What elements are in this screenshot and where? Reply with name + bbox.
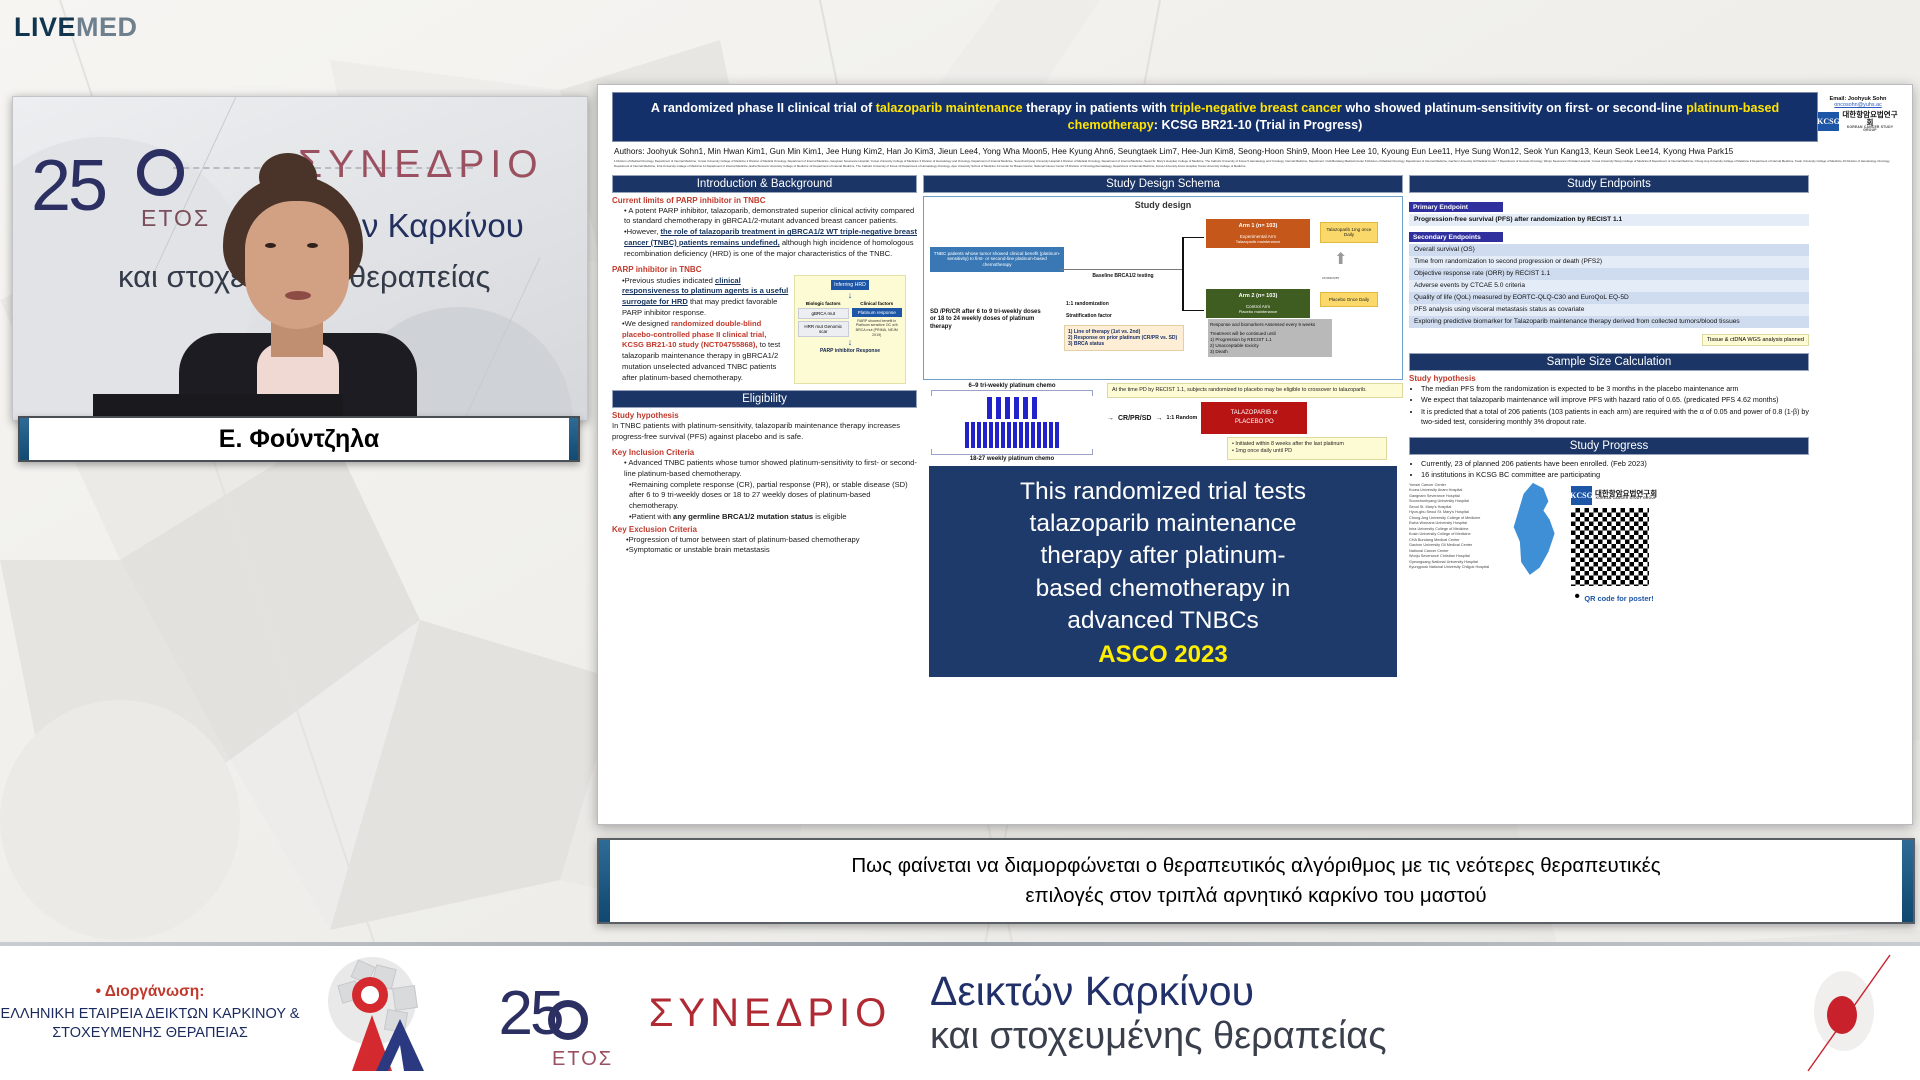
secondary-endpoint-2: Time from randomization to second progre… [1409, 256, 1809, 268]
design-talazoparib-box: Talazoparib 1mg once Daily [1320, 222, 1378, 243]
samplesize-list: The median PFS from the randomization is… [1421, 384, 1809, 428]
elig-incl-1: Advanced TNBC patients whose tumor showe… [624, 458, 917, 478]
samplesize-label: Study hypothesis [1409, 374, 1809, 383]
organizer-block: • Διοργάνωση: ΕΛΛΗΝΙΚΗ ΕΤΑΙΡΕΙΑ ΔΕΙΚΤΩΝ … [0, 983, 300, 1043]
elig-label-2: Key Inclusion Criteria [612, 448, 917, 457]
contact-block: Email: Joohyuk Sohn oncosohn@yuhs.ac KCS… [1818, 96, 1898, 133]
livemed-logo[interactable]: LIVEMED [14, 12, 138, 43]
design-sd-note: SD /PR/CR after 6 to 9 tri-weekly doses … [930, 309, 1048, 332]
red-box-line1: TALAZOPARIB or [1206, 409, 1302, 418]
elig-label-3: Key Exclusion Criteria [612, 525, 917, 534]
banner-asco-label: ASCO 2023 [941, 639, 1385, 671]
secondary-endpoint-5: Quality of life (QoL) measured by EORTC-… [1409, 292, 1809, 304]
hrd-top-box: Inferring HRD [831, 280, 869, 290]
chemo-bottom-label: 18-27 weekly platinum chemo [923, 456, 1101, 462]
hrd-clinical-col: Clinical factors Platinum response RARP … [852, 301, 903, 339]
organizer-name: ΕΛΛΗΝΙΚΗ ΕΤΑΙΡΕΙΑ ΔΕΙΚΤΩΝ ΚΑΡΚΙΝΟΥ & ΣΤΟ… [0, 1005, 300, 1043]
society-logo [300, 953, 430, 1073]
design-connector [1060, 269, 1182, 270]
intro-label-1: Current limits of PARP inhibitor in TNBC [612, 196, 917, 205]
section-header-samplesize: Sample Size Calculation [1409, 353, 1809, 371]
speaker-figure [173, 175, 423, 420]
degree-ring-icon-footer [548, 1000, 588, 1040]
section-header-design: Study Design Schema [923, 175, 1403, 193]
elig-exclusion: •Progression of tumor between start of p… [612, 535, 917, 557]
crprsd-label: CR/PR/SD [1118, 415, 1151, 422]
design-placebo-box: Placebo Once Daily [1320, 292, 1378, 308]
logo-live: LIVE [14, 12, 76, 42]
organizer-label: • Διοργάνωση: [0, 983, 300, 1001]
samplesize-item-3: It is predicted that a total of 206 pati… [1421, 407, 1809, 428]
design-split-line [1182, 237, 1184, 311]
samplesize-item-2: We expect that talazoparib maintenance w… [1421, 395, 1809, 405]
elig-incl-3-post: is eligible [813, 512, 846, 521]
dosing-note-1: Initiated within 8 weeks after the last … [1235, 441, 1343, 447]
kcsg-logo: KCSG 대한항암요법연구회 KOREAN CANCER STUDY GROUP [1818, 111, 1898, 133]
design-strat-3: 3) BRCA status [1068, 341, 1180, 347]
design-rand-label: 1:1 randomization [1066, 301, 1176, 307]
participating-institutions: Yonsei Cancer Center Korea University An… [1409, 483, 1501, 571]
elig-excl-1: Progression of tumor between start of pl… [629, 535, 860, 544]
hrd-arrow-icon-2: ↓ [798, 339, 902, 345]
title-highlight-2: triple-negative breast cancer [1170, 101, 1342, 115]
design-arm1-sub2: Talazoparib maintenance [1209, 239, 1307, 244]
kcsg-mark-icon: KCSG [1818, 112, 1839, 131]
title-seg-4: : KCSG BR21-10 (Trial in Progress) [1154, 118, 1363, 132]
randomize-red-box: TALAZOPARIB or PLACEBO PO [1201, 402, 1307, 434]
title-seg-1: A randomized phase II clinical trial of [651, 101, 876, 115]
chemo-top-label: 6–9 tri-weekly platinum chemo [923, 383, 1101, 389]
caption-text: Πως φαίνεται να διαμορφώνεται ο θεραπευτ… [825, 851, 1686, 910]
progress-item-1: Currently, 23 of planned 206 patients ha… [1421, 458, 1809, 469]
elig-incl-2: Remaining complete response (CR), partia… [629, 480, 908, 511]
hrd-biologic-col: Biologic factors gBRCA mut HRR mut Genom… [798, 301, 849, 339]
hrd-flow-diagram: Inferring HRD ↓ Biologic factors gBRCA m… [794, 275, 906, 385]
kcsg-kr-sub-2: KOREAN CANCER STUDY GROUP [1595, 497, 1657, 500]
secondary-endpoint-3: Objective response rate (ORR) by RECIST … [1409, 268, 1809, 280]
progress-bottom-row: Yonsei Cancer Center Korea University An… [1409, 483, 1809, 606]
secondary-endpoint-header: Secondary Endpoints [1409, 232, 1503, 242]
chemo-weekly-bars [923, 422, 1101, 448]
design-arrow-up [1182, 237, 1204, 239]
banner-line-3: therapy after platinum- [1040, 542, 1285, 569]
design-strat-box: 1) Line of therapy (1st vs. 2nd) 2) Resp… [1064, 325, 1184, 352]
hrd-biologic-1: gBRCA mut [798, 308, 849, 319]
caption-line-1: Πως φαίνεται να διαμορφώνεται ο θεραπευτ… [851, 854, 1660, 877]
primary-endpoint: Progression-free survival (PFS) after ra… [1409, 214, 1809, 226]
email-address[interactable]: oncosohn@yuhs.ac [1818, 102, 1898, 108]
speaker-eye-left [265, 243, 276, 248]
speaker-name: Ε. Φούντζηλα [219, 425, 379, 454]
tissue-analysis-note: Tissue & ctDNA WGS analysis planned [1702, 334, 1809, 346]
anniversary-etos: ΕΤΟΣ [552, 1048, 613, 1071]
key-message-banner: This randomized trial tests talazoparib … [929, 466, 1397, 677]
chemo-schedule-row: 6–9 tri-weekly platinum chemo 18-27 week… [923, 383, 1403, 462]
design-strat-title: Stratification factor [1066, 313, 1176, 319]
random-11-label: 1:1 Random [1166, 415, 1197, 421]
design-patients-box: TNBC patients whose tumor showed clinica… [930, 247, 1064, 272]
elig-incl-3-pre: Patient with [632, 512, 673, 521]
hrd-biologic-cap: Biologic factors [798, 301, 849, 306]
poster-column-middle: Study Design Schema Study design TNBC pa… [923, 172, 1403, 677]
intro-bullet-2-pre: However, [627, 227, 661, 236]
hrd-arrow-icon: ↓ [798, 292, 902, 298]
elig-inclusion: • Advanced TNBC patients whose tumor sho… [612, 458, 917, 523]
qr-code-icon[interactable] [1571, 508, 1649, 586]
kcsg-logo-footer: KCSG 대한항암요법연구회 KOREAN CANCER STUDY GROUP [1571, 486, 1657, 505]
design-arrow-down [1182, 310, 1204, 312]
scientific-poster: A randomized phase II clinical trial of … [604, 90, 1906, 818]
section-header-intro: Introduction & Background [612, 175, 917, 193]
design-gray-1: Response and biomarkers Assessed every 9… [1210, 322, 1330, 328]
section-header-progress: Study Progress [1409, 437, 1809, 455]
primary-endpoint-header: Primary Endpoint [1409, 202, 1503, 212]
banner-line-1: This randomized trial tests [1020, 478, 1306, 505]
progress-list: Currently, 23 of planned 206 patients ha… [1421, 458, 1809, 480]
red-box-line2: PLACEBO PO [1206, 418, 1302, 427]
intro-body-2: •Previous studies indicated clinical res… [612, 275, 790, 385]
poster-column-right: Study Endpoints Primary Endpoint Progres… [1409, 172, 1809, 677]
speaker-name-plate: Ε. Φούντζηλα [18, 416, 580, 462]
secondary-endpoint-1: Overall survival (OS) [1409, 244, 1809, 256]
footer-accent-mark [1780, 953, 1920, 1073]
dosing-note-2: 1mg once daily until PD [1235, 448, 1292, 454]
chemo-triweekly-bars [923, 397, 1101, 419]
title-seg-3: who showed platinum-sensitivity on first… [1342, 101, 1686, 115]
design-arm2-title: Arm 2 (n= 103) [1209, 293, 1307, 300]
design-arm1-box: Arm 1 (n= 103) Experimental Arm Talazopa… [1206, 219, 1310, 249]
study-design-box: Study design TNBC patients whose tumor s… [923, 196, 1403, 380]
chemo-bars-block: 6–9 tri-weekly platinum chemo 18-27 week… [923, 383, 1101, 462]
logo-med: MED [76, 12, 138, 42]
elig-hypothesis: In TNBC patients with platinum-sensitivi… [612, 421, 917, 443]
congress-word: ΣΥΝΕΔΡΙΟ [630, 991, 910, 1036]
chemo-right-block: At the time PD by RECIST 1.1, subjects r… [1107, 383, 1403, 462]
poster-columns: Introduction & Background Current limits… [604, 168, 1906, 677]
progress-item-2: 16 institutions in KCSG BC committee are… [1421, 469, 1809, 480]
design-gray-5: 3) Death [1210, 349, 1330, 355]
congress-title: Δεικτών Καρκίνου και στοχευμένης θεραπεί… [910, 969, 1780, 1057]
presentation-slide[interactable]: A randomized phase II clinical trial of … [597, 84, 1913, 825]
intro-body-1: • A potent PARP inhibitor, talazoparib, … [612, 206, 917, 260]
qr-code-label: QR code for poster! [1584, 594, 1653, 603]
section-header-eligibility: Eligibility [612, 390, 917, 408]
hrd-bottom-label: PARP inhibitor Response [798, 348, 902, 354]
poster-affiliations: 1 Division of Medical Oncology, Departme… [614, 159, 1898, 167]
poster-column-left: Introduction & Background Current limits… [612, 172, 917, 677]
banner-line-2: talazoparib maintenance [1030, 510, 1297, 537]
hrd-clinical-cap: Clinical factors [852, 301, 903, 306]
intro-bullet-4-pre: We designed [625, 319, 671, 328]
design-arm1-title: Arm 1 (n= 103) [1209, 223, 1307, 230]
intro-bullet-1: A potent PARP inhibitor, talazoparib, de… [624, 206, 914, 226]
banner-line-4: based chemotherapy in [1036, 575, 1291, 602]
video-overlay-25: 25 [31, 145, 105, 227]
design-baseline-label: Baseline BRCA1/2 testing [1064, 273, 1182, 279]
elig-label-1: Study hypothesis [612, 411, 917, 420]
session-caption: Πως φαίνεται να διαμορφώνεται ο θεραπευτ… [597, 838, 1915, 924]
footer-divider [0, 942, 1920, 946]
samplesize-item-1: The median PFS from the randomization is… [1421, 384, 1809, 394]
intro-bullet-3-pre: Previous studies indicated [625, 276, 715, 285]
speaker-eye-right [307, 243, 318, 248]
speaker-video[interactable]: 25 ΕΤΟΣ ΣΥΝΕΔΡΙΟ Δεικτών Καρκίνου και στ… [12, 96, 588, 421]
title-seg-2: therapy in patients with [1023, 101, 1171, 115]
congress-title-line1: Δεικτών Καρκίνου [930, 969, 1780, 1015]
congress-title-line2: και στοχευμένης θεραπείας [930, 1015, 1780, 1058]
elig-incl-3-bold: any germline BRCA1/2 mutation status [673, 512, 813, 521]
speaker-face [245, 201, 349, 329]
speaker-hair-bun [259, 153, 317, 201]
title-highlight-1: talazoparib maintenance [876, 101, 1023, 115]
kcsg-korean-name: 대한항암요법연구회 KOREAN CANCER STUDY GROUP [1842, 111, 1898, 133]
organizer-label-text: Διοργάνωση: [105, 983, 205, 1000]
speaker-mouth [285, 291, 311, 300]
poster-title: A randomized phase II clinical trial of … [612, 92, 1818, 142]
qr-block: KCSG 대한항암요법연구회 KOREAN CANCER STUDY GROUP… [1571, 483, 1657, 606]
banner-line-5: advanced TNBCs [1067, 607, 1259, 634]
elig-excl-2: Symptomatic or unstable brain metastasis [629, 545, 770, 554]
crossover-arrow-icon: ⬆ [1334, 255, 1347, 265]
secondary-endpoint-4: Adverse events by CTCAE 5.0 criteria [1409, 280, 1809, 292]
hrd-biologic-2: HRR mut Genomic scar [798, 321, 849, 337]
intro-label-2: PARP inhibitor in TNBC [612, 265, 917, 274]
study-design-subtitle: Study design [927, 200, 1399, 210]
crossover-label: crossover [1322, 275, 1339, 280]
anniversary-mark: 25 ΕΤΟΣ [430, 978, 630, 1049]
hrd-clinical-1: Platinum response [852, 308, 903, 317]
pd-crossover-note: At the time PD by RECIST 1.1, subjects r… [1107, 383, 1403, 398]
secondary-endpoint-6: PFS analysis using visceral metastasis s… [1409, 304, 1809, 316]
poster-authors: Authors: Joohyuk Sohn1, Min Hwan Kim1, G… [614, 146, 1898, 158]
design-gray-box: Response and biomarkers Assessed every 9… [1208, 319, 1332, 358]
design-arm2-sub2: Placebo maintenance [1209, 309, 1307, 314]
kcsg-korean-name-2: 대한항암요법연구회 KOREAN CANCER STUDY GROUP [1595, 490, 1657, 501]
kcsg-kr-sub: KOREAN CANCER STUDY GROUP [1842, 126, 1898, 133]
page-footer: • Διοργάνωση: ΕΛΛΗΝΙΚΗ ΕΤΑΙΡΕΙΑ ΔΕΙΚΤΩΝ … [0, 944, 1920, 1080]
dosing-note: • Initiated within 8 weeks after the las… [1227, 437, 1387, 460]
caption-line-2: επιλογές στον τριπλά αρνητικό καρκίνο το… [1025, 884, 1486, 907]
kcsg-mark-icon-2: KCSG [1571, 486, 1592, 505]
design-arm2-box: Arm 2 (n= 103) Control Arm Placebo maint… [1206, 289, 1310, 319]
korea-map-icon [1505, 483, 1567, 575]
section-header-endpoints: Study Endpoints [1409, 175, 1809, 193]
hrd-clinical-note: RARP showed benefit in Platinum sensitiv… [852, 319, 903, 338]
secondary-endpoint-7: Exploring predictive biomarker for Talaz… [1409, 316, 1809, 328]
